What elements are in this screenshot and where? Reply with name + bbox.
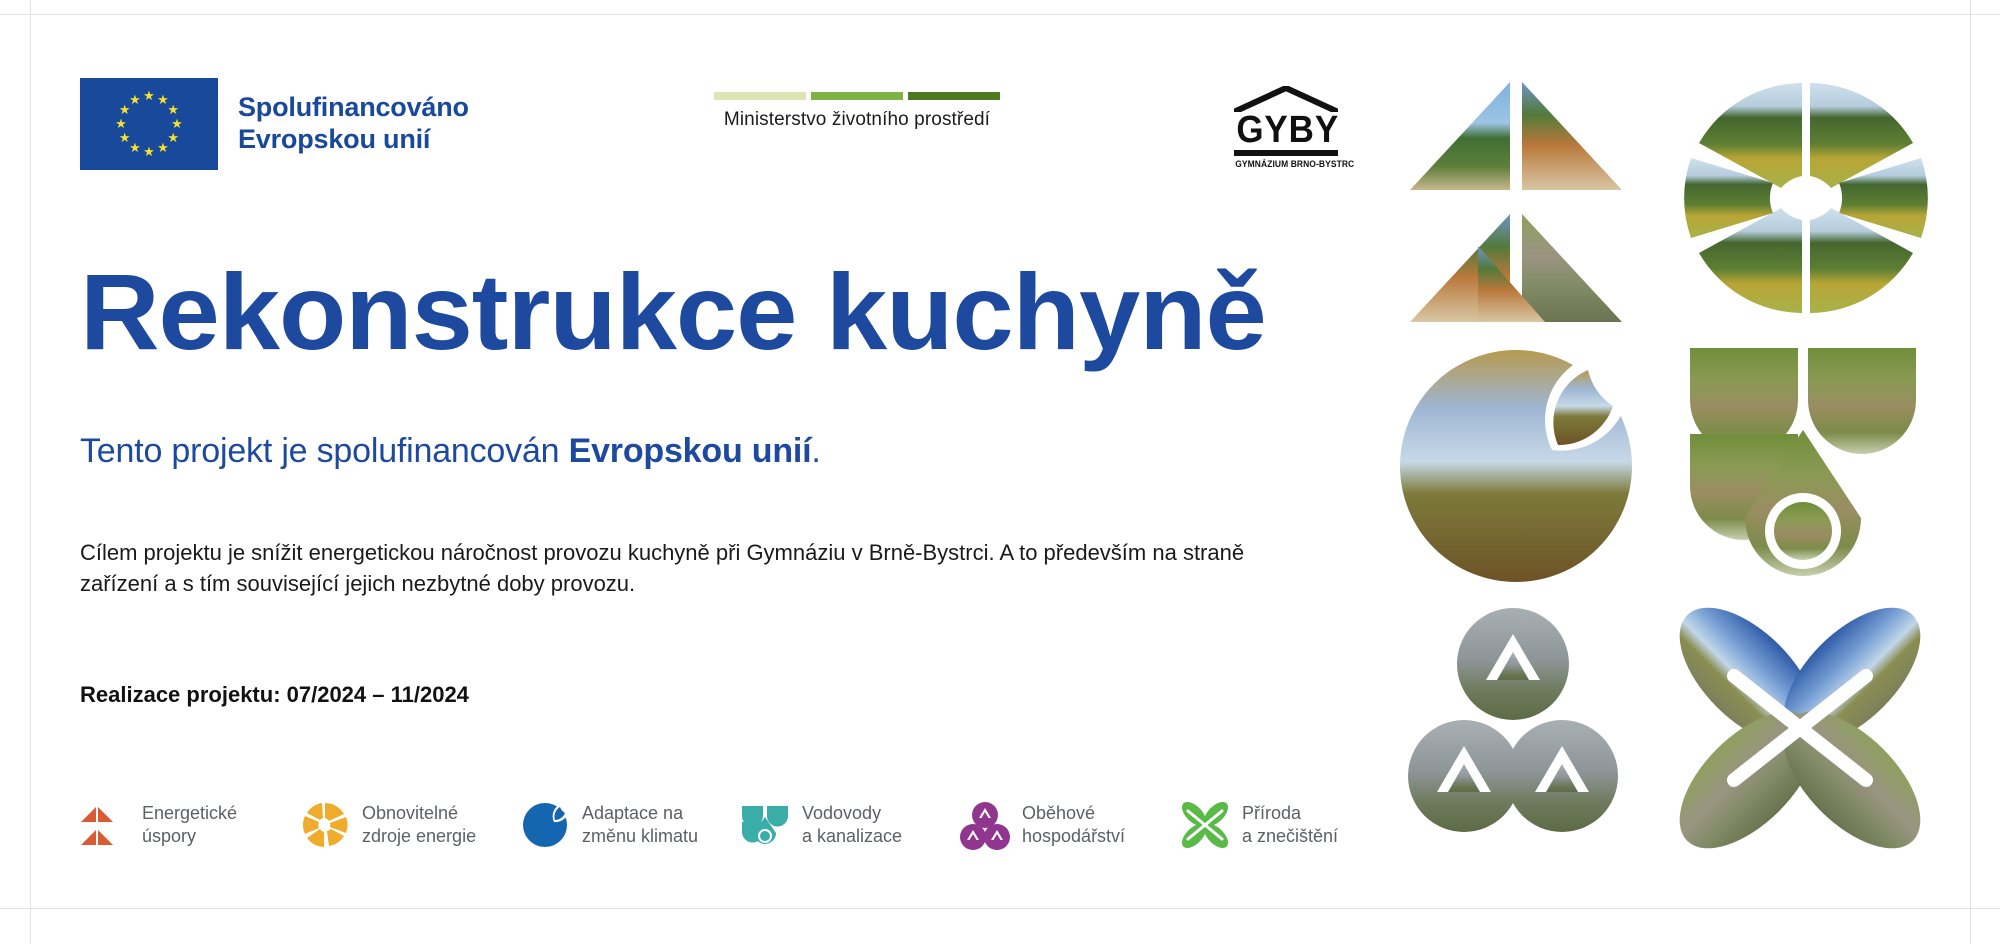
- subtitle-suffix: .: [811, 432, 820, 470]
- pictogram-label: Oběhové hospodářství: [1022, 802, 1125, 848]
- crop-guide: [1970, 0, 1971, 944]
- main-content: Rekonstrukce kuchyně Tento projekt je sp…: [80, 258, 1330, 708]
- water-supply-collage: [1690, 348, 1916, 576]
- pictogram-nature-pollution: Příroda a znečištění: [1180, 800, 1400, 850]
- water-supply-icon: [740, 800, 790, 850]
- renewable-energy-collage: [1684, 83, 1928, 313]
- eu-star-icon: ★: [129, 142, 141, 154]
- pictogram-legend: Energetické úspory Obnovitelné zdroje en…: [80, 800, 1400, 850]
- circular-economy-icon: [960, 800, 1010, 850]
- photo-collage: [1400, 60, 1960, 860]
- eu-star-icon: ★: [167, 132, 179, 144]
- renewable-energy-icon: [300, 800, 350, 850]
- page-title: Rekonstrukce kuchyně: [80, 258, 1355, 366]
- pictogram-water-supply: Vodovody a kanalizace: [740, 800, 960, 850]
- eu-flag-icon: ★★★★★★★★★★★★: [80, 78, 218, 170]
- energy-savings-collage: [1410, 82, 1622, 322]
- circular-economy-collage: [1408, 608, 1618, 832]
- gyby-wordmark: GYBY: [1236, 112, 1335, 148]
- gyby-subtitle: GYMNÁZIUM BRNO-BYSTRC: [1235, 159, 1337, 169]
- subtitle-line: Tento projekt je spolufinancován Evropsk…: [80, 432, 1330, 471]
- eu-funding-logo: ★★★★★★★★★★★★ Spolufinancováno Evropskou …: [80, 78, 469, 170]
- subtitle-prefix: Tento projekt je spolufinancován: [80, 432, 569, 470]
- project-description: Cílem projektu je snížit energetickou ná…: [80, 537, 1325, 599]
- eu-star-icon: ★: [129, 94, 141, 106]
- climate-adaptation-icon: [520, 800, 570, 850]
- collage-graphic: [1400, 60, 1960, 860]
- gyby-school-logo: GYBY GYMNÁZIUM BRNO-BYSTRC: [1232, 86, 1340, 169]
- climate-adaptation-collage: [1400, 350, 1632, 582]
- nature-pollution-icon: [1180, 800, 1230, 850]
- eu-star-icon: ★: [157, 142, 169, 154]
- pictogram-label: Vodovody a kanalizace: [802, 802, 902, 848]
- pictogram-label: Obnovitelné zdroje energie: [362, 802, 476, 848]
- pictogram-label: Adaptace na změnu klimatu: [582, 802, 698, 848]
- pictogram-label: Příroda a znečištění: [1242, 802, 1338, 848]
- nature-pollution-collage: [1656, 584, 1944, 860]
- eu-star-icon: ★: [119, 132, 131, 144]
- realization-period: Realizace projektu: 07/2024 – 11/2024: [80, 682, 1330, 708]
- header-logo-strip: ★★★★★★★★★★★★ Spolufinancováno Evropskou …: [0, 0, 1400, 190]
- eu-funding-label: Spolufinancováno Evropskou unií: [238, 92, 469, 156]
- pictogram-circular-economy: Oběhové hospodářství: [960, 800, 1180, 850]
- pictogram-renewable-energy: Obnovitelné zdroje energie: [300, 800, 520, 850]
- eu-star-icon: ★: [171, 118, 183, 130]
- ministry-bars-icon: [714, 92, 1000, 100]
- eu-star-icon: ★: [115, 118, 127, 130]
- energy-savings-icon: [80, 800, 130, 850]
- eu-star-icon: ★: [143, 146, 155, 158]
- pictogram-climate-adaptation: Adaptace na změnu klimatu: [520, 800, 740, 850]
- crop-guide: [0, 908, 2000, 909]
- eu-star-icon: ★: [167, 104, 179, 116]
- pictogram-label: Energetické úspory: [142, 802, 237, 848]
- ministry-environment-logo: Ministerstvo životního prostředí: [712, 92, 1002, 131]
- poster-page: ★★★★★★★★★★★★ Spolufinancováno Evropskou …: [0, 0, 2000, 944]
- eu-star-icon: ★: [143, 90, 155, 102]
- pictogram-energy-savings: Energetické úspory: [80, 800, 300, 850]
- subtitle-emphasis: Evropskou unií: [569, 432, 812, 470]
- ministry-name-label: Ministerstvo životního prostředí: [712, 109, 1002, 131]
